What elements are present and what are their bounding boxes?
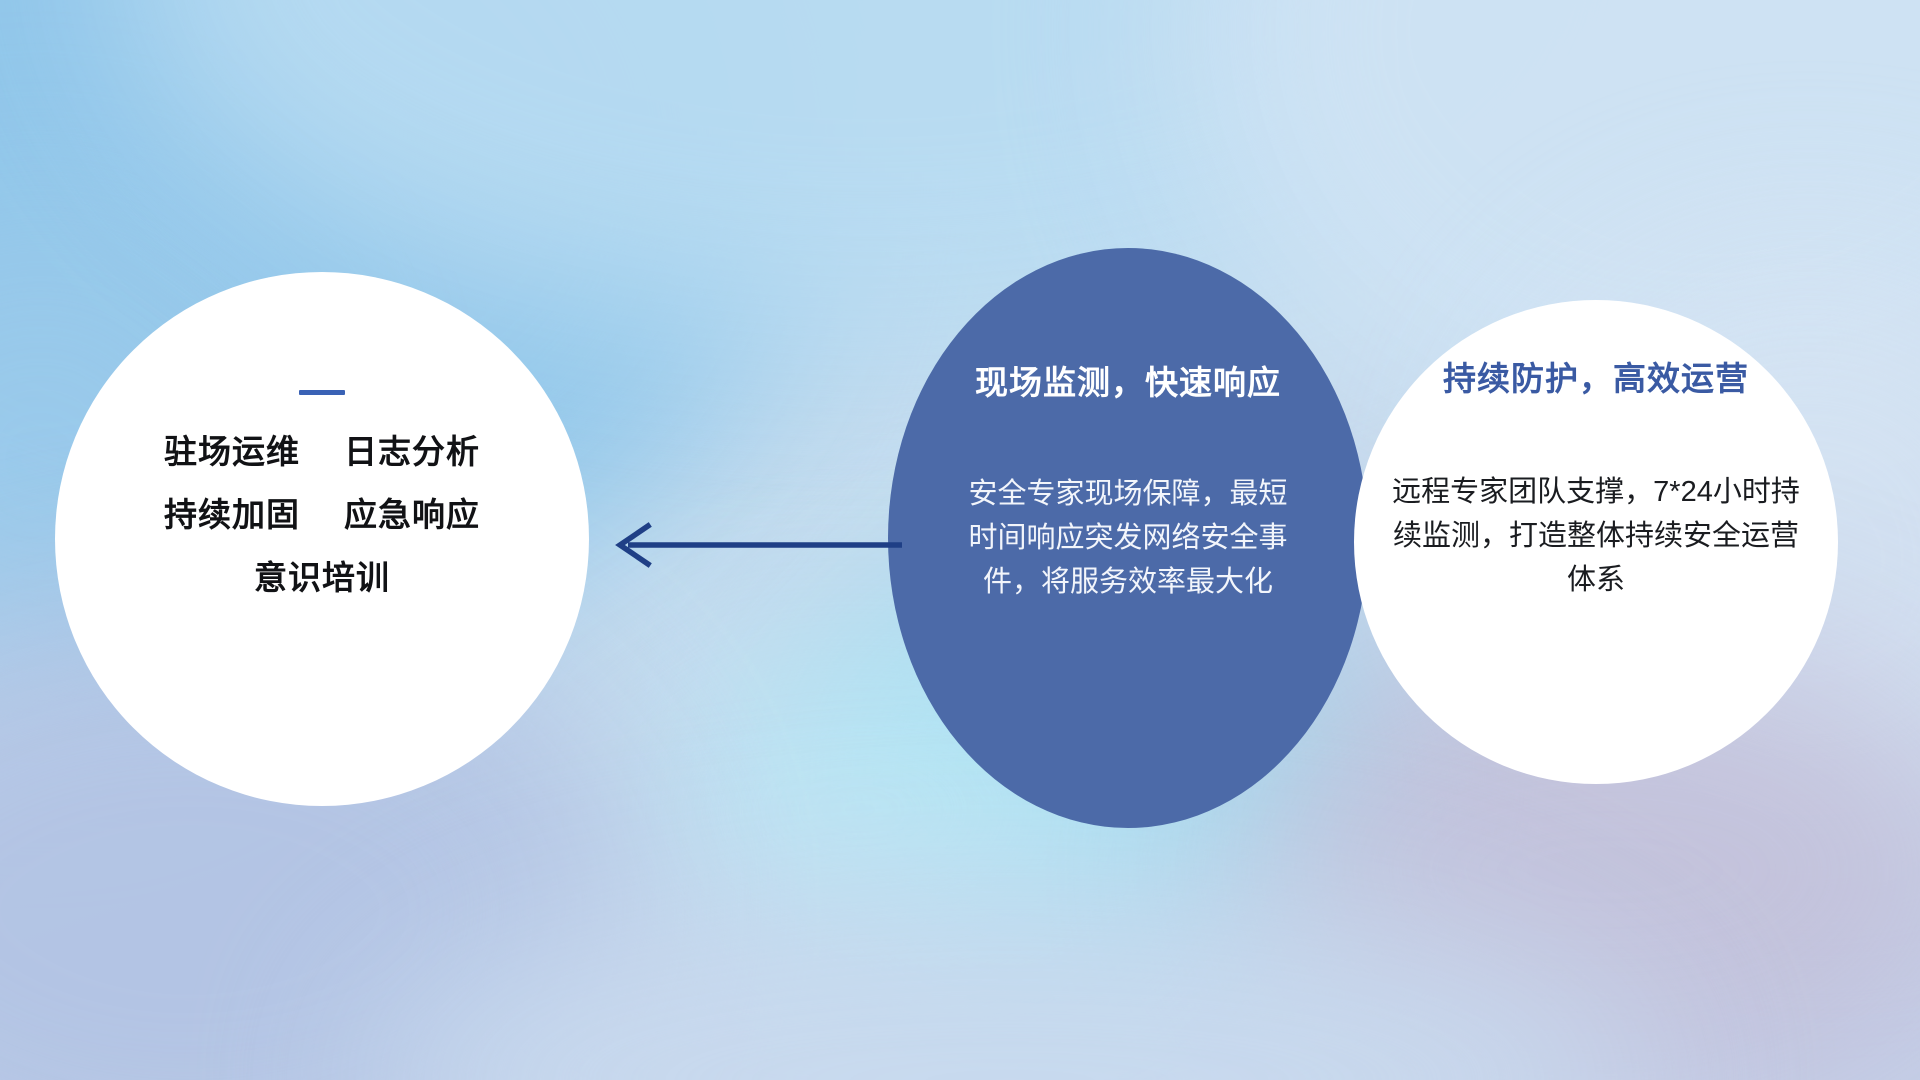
keyword-row: 持续加固 应急响应: [164, 498, 480, 531]
keyword-item: 意识培训: [254, 561, 390, 594]
onsite-card-body: 安全专家现场保障，最短时间响应突发网络安全事件，将服务效率最大化: [963, 472, 1293, 604]
keyword-item: 日志分析: [344, 435, 480, 468]
capabilities-circle: 驻场运维 日志分析 持续加固 应急响应 意识培训: [55, 272, 589, 806]
keyword-item: 持续加固: [164, 498, 300, 531]
keyword-item: 驻场运维: [164, 435, 300, 468]
remote-card-title: 持续防护，高效运营: [1443, 352, 1749, 400]
onsite-card-title: 现场监测，快速响应: [975, 356, 1281, 404]
keyword-row: 驻场运维 日志分析: [164, 435, 480, 468]
remote-operations-circle: 持续防护，高效运营 远程专家团队支撑，7*24小时持续监测，打造整体持续安全运营…: [1354, 300, 1838, 784]
onsite-monitoring-circle: 现场监测，快速响应 安全专家现场保障，最短时间响应突发网络安全事件，将服务效率最…: [888, 248, 1368, 828]
keyword-row: 意识培训: [254, 561, 390, 594]
horizontal-dash-icon: [299, 390, 345, 395]
remote-card-body: 远程专家团队支撑，7*24小时持续监测，打造整体持续安全运营体系: [1386, 470, 1806, 602]
keyword-item: 应急响应: [344, 498, 480, 531]
arrow-left-icon: [596, 518, 906, 572]
